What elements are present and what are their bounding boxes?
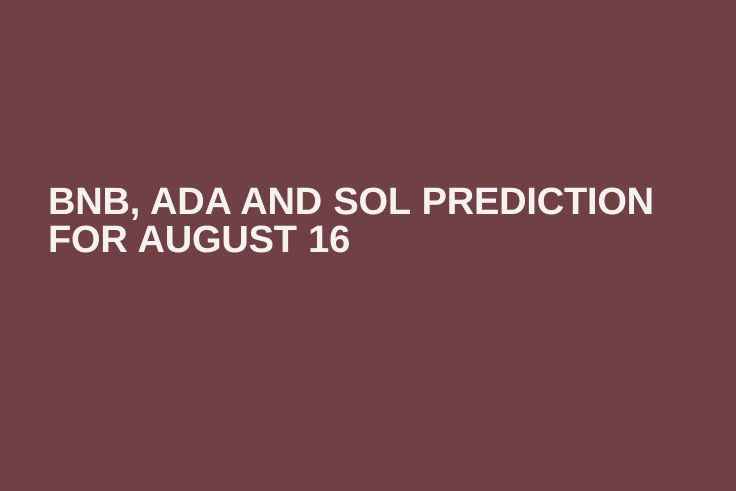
article-cover: BNB, ADA AND SOL PREDICTIONFOR AUGUST 16 bbox=[0, 0, 736, 491]
headline-line-2: FOR AUGUST 16 bbox=[48, 221, 668, 259]
headline-block: BNB, ADA AND SOL PREDICTIONFOR AUGUST 16 bbox=[48, 183, 668, 259]
headline-line-1: BNB, ADA AND SOL PREDICTION bbox=[48, 183, 668, 221]
page-title: BNB, ADA AND SOL PREDICTIONFOR AUGUST 16 bbox=[48, 183, 668, 259]
